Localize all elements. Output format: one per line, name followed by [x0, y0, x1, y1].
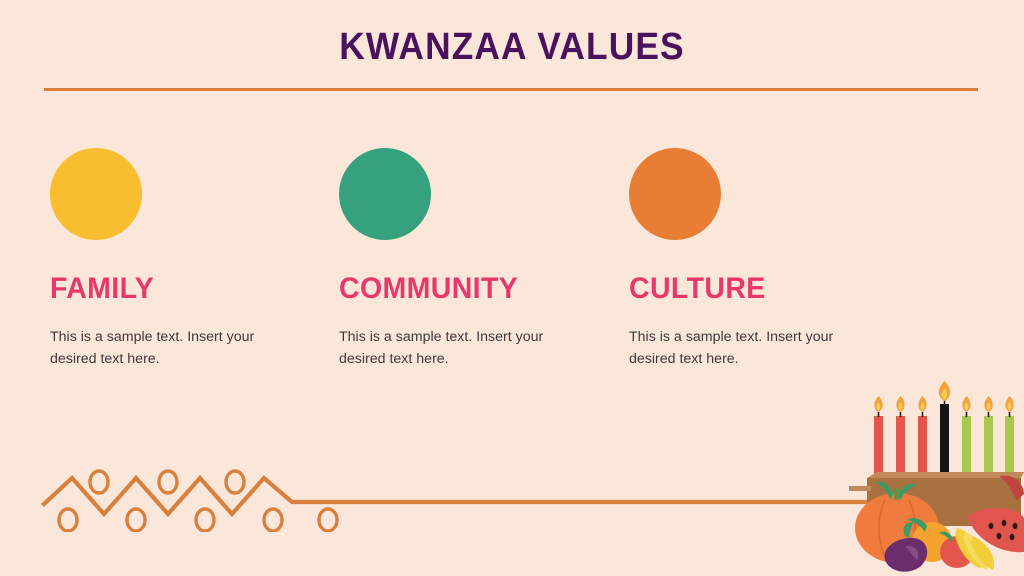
candles-group [874, 404, 1014, 478]
bubble-community [339, 148, 431, 240]
zigzag-ornament-icon [40, 462, 980, 532]
title-divider-rule [44, 88, 978, 91]
bubble-culture [629, 148, 721, 240]
slide-canvas: KWANZAA VALUES FAMILY This is a sample t… [0, 0, 1024, 576]
column-heading-family: FAMILY [50, 274, 292, 304]
value-column-family: FAMILY This is a sample text. Insert you… [50, 148, 305, 370]
value-columns: FAMILY This is a sample text. Insert you… [0, 148, 1024, 388]
page-title: KWANZAA VALUES [36, 28, 988, 66]
column-body-culture: This is a sample text. Insert your desir… [629, 326, 844, 370]
value-column-culture: CULTURE This is a sample text. Insert yo… [629, 148, 884, 370]
bubble-family [50, 148, 142, 240]
column-heading-culture: CULTURE [629, 274, 871, 304]
column-body-community: This is a sample text. Insert your desir… [339, 326, 554, 370]
kinara-illustration-icon [849, 376, 1024, 576]
column-body-family: This is a sample text. Insert your desir… [50, 326, 265, 370]
value-column-community: COMMUNITY This is a sample text. Insert … [339, 148, 594, 370]
column-heading-community: COMMUNITY [339, 274, 581, 304]
